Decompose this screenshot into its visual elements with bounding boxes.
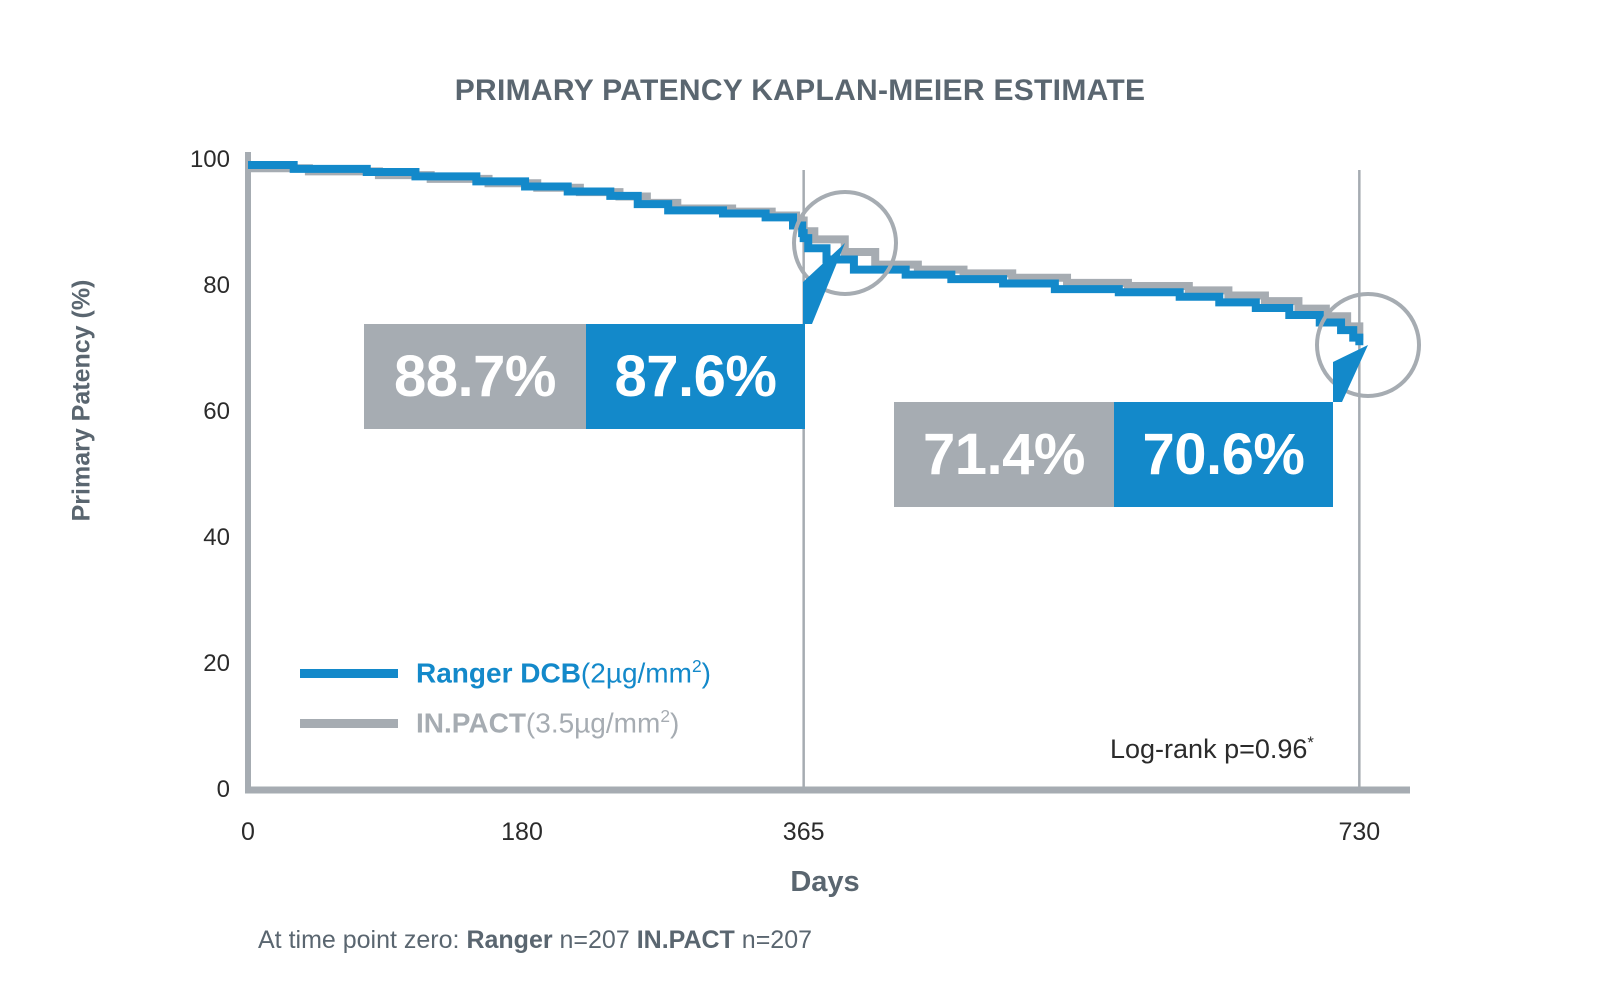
year-2-ranger-value: 70.6% — [1114, 402, 1333, 507]
legend-dose-inpact: (3.5µg/mm — [526, 708, 660, 739]
legend-dose-ranger: (2µg/mm — [581, 658, 692, 689]
legend-item-ranger: Ranger DCB(2µg/mm2) — [300, 648, 711, 698]
p-value-annotation: Log-rank p=0.96* — [1110, 733, 1314, 765]
legend-swatch-inpact-icon — [300, 719, 398, 728]
plot-area — [0, 0, 1600, 1008]
highlight-circle-layer — [794, 192, 1419, 396]
year-2-callout: 71.4% 70.6% — [894, 402, 1333, 507]
kaplan-meier-chart: PRIMARY PATENCY KAPLAN-MEIER ESTIMATE Pr… — [0, 0, 1600, 1008]
footnote: At time point zero: Ranger n=207 IN.PACT… — [258, 926, 812, 955]
year-1-inpact-value: 88.7% — [364, 324, 586, 429]
footnote-lead: At time point zero: — [258, 926, 466, 954]
legend-name-inpact: IN.PACT — [416, 708, 526, 739]
footnote-ranger-label: Ranger — [466, 926, 552, 954]
year-2-inpact-value: 71.4% — [894, 402, 1114, 507]
p-value-superscript: * — [1307, 733, 1314, 752]
year-1-callout: 88.7% 87.6% — [364, 324, 805, 429]
legend: Ranger DCB(2µg/mm2) IN.PACT(3.5µg/mm2) — [300, 648, 711, 748]
footnote-inpact-label: IN.PACT — [637, 926, 735, 954]
legend-swatch-ranger-icon — [300, 669, 398, 678]
footnote-inpact-n: n=207 — [735, 926, 812, 954]
legend-tail-ranger: ) — [702, 658, 711, 689]
legend-name-ranger: Ranger DCB — [416, 658, 581, 689]
legend-tail-inpact: ) — [670, 708, 679, 739]
legend-sup-ranger: 2 — [692, 656, 702, 676]
year-1-ranger-value: 87.6% — [586, 324, 805, 429]
p-value-text: Log-rank p=0.96 — [1110, 734, 1307, 764]
footnote-ranger-n: n=207 — [553, 926, 637, 954]
legend-label-inpact: IN.PACT(3.5µg/mm2) — [416, 706, 679, 739]
legend-label-ranger: Ranger DCB(2µg/mm2) — [416, 656, 711, 689]
legend-item-inpact: IN.PACT(3.5µg/mm2) — [300, 698, 711, 748]
legend-sup-inpact: 2 — [660, 706, 670, 726]
